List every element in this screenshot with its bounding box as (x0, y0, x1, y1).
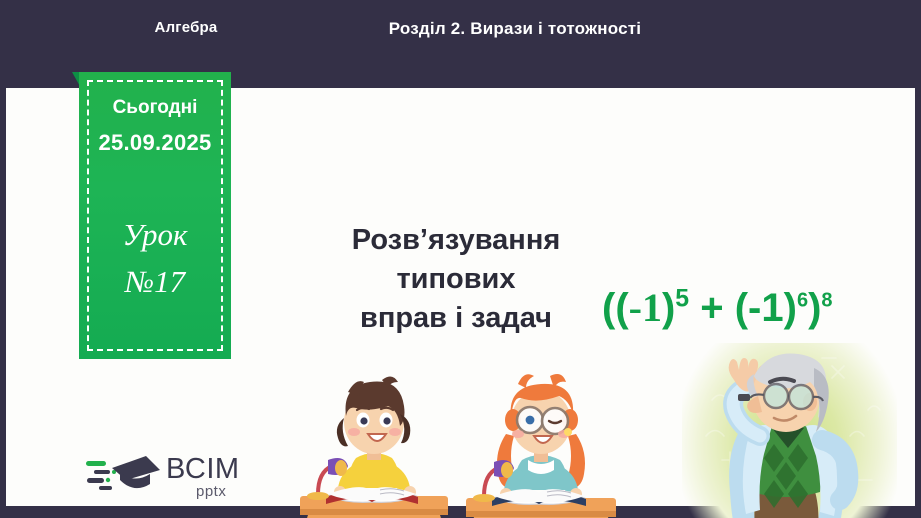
today-label: Сьогодні (79, 97, 231, 119)
subject-label: Алгебра (106, 19, 266, 36)
graduation-cap-icon (84, 450, 162, 502)
math-close-3: ) (808, 286, 821, 330)
math-close-1: ) (662, 286, 675, 330)
math-base-1: -1 (629, 285, 662, 330)
brand-sub: pptx (196, 483, 226, 500)
math-exponent-2: 6 (797, 290, 808, 312)
lesson-word: Урок (79, 217, 231, 253)
chapter-title: Розділ 2. Вирази і тотожності (300, 19, 730, 39)
math-open-parens: (( (602, 286, 629, 330)
math-base-2: -1 (748, 286, 784, 330)
title-line-1: Розв’язування (281, 221, 631, 260)
page-title: Розв’язування типових вправ і задач (281, 221, 631, 338)
date-card: Сьогодні 25.09.2025 Урок №17 (79, 72, 231, 359)
professor-illustration (682, 340, 897, 518)
girl-at-desk-illustration (458, 364, 624, 518)
lesson-number: №17 (79, 264, 231, 300)
title-line-2: типових (281, 260, 631, 299)
today-date: 25.09.2025 (79, 130, 231, 156)
math-open-2: ( (735, 286, 748, 330)
date-card-dashed-border (87, 80, 223, 351)
math-plus: + (700, 286, 723, 330)
math-exponent-1: 5 (675, 286, 689, 313)
boy-at-desk-illustration (294, 366, 454, 518)
title-line-3: вправ і задач (281, 299, 631, 338)
brand-logo: ВСІМ pptx (84, 450, 254, 508)
math-exponent-3: 8 (821, 290, 832, 312)
math-expression: ((-1)5 + (-1)6)8 (602, 284, 833, 331)
math-close-2: ) (784, 286, 797, 330)
brand-name: ВСІМ (166, 453, 240, 486)
slide-root: Алгебра Розділ 2. Вирази і тотожності Ро… (0, 0, 921, 518)
